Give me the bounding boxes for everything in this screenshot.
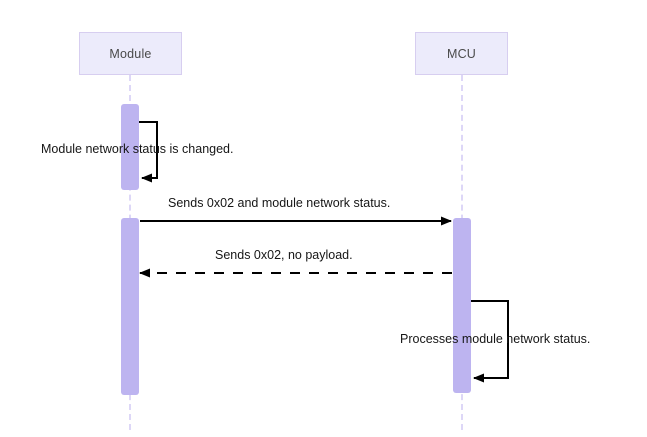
sequence-diagram: Module MCU <box>0 0 647 437</box>
message-2-label: Sends 0x02 and module network status. <box>168 196 390 210</box>
message-3-label: Sends 0x02, no payload. <box>215 248 353 262</box>
arrow-layer <box>0 0 647 437</box>
message-4-label: Processes module network status. <box>400 332 590 346</box>
message-1-label: Module network status is changed. <box>41 142 233 156</box>
